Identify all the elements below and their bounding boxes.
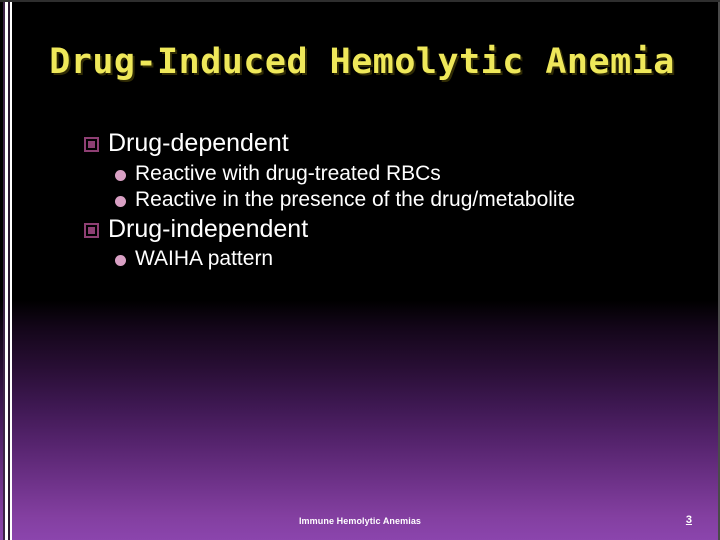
page-number: 3: [686, 514, 692, 526]
background-gradient: [0, 300, 720, 540]
list-item: Drug-dependent: [84, 128, 684, 159]
list-item: Reactive with drug-treated RBCs: [115, 161, 684, 187]
presentation-slide: Drug-Induced Hemolytic Anemia Drug-depen…: [0, 0, 720, 540]
list-item-label: Drug-dependent: [108, 128, 289, 159]
list-item-label: WAIHA pattern: [135, 246, 273, 272]
square-in-square-icon: [84, 137, 99, 152]
list-item-label: Reactive with drug-treated RBCs: [135, 161, 441, 187]
slide-body-list: Drug-dependent Reactive with drug-treate…: [84, 128, 684, 273]
footer-note: Immune Hemolytic Anemias: [0, 516, 720, 526]
list-item-label: Drug-independent: [108, 214, 308, 245]
slide-title: Drug-Induced Hemolytic Anemia: [12, 42, 712, 82]
square-in-square-icon: [84, 223, 99, 238]
round-dot-icon: [115, 170, 126, 181]
list-item-label: Reactive in the presence of the drug/met…: [135, 187, 575, 213]
top-border-rule: [0, 0, 720, 2]
list-item: WAIHA pattern: [115, 246, 684, 272]
round-dot-icon: [115, 196, 126, 207]
list-item: Reactive in the presence of the drug/met…: [115, 187, 684, 213]
list-item: Drug-independent: [84, 214, 684, 245]
round-dot-icon: [115, 255, 126, 266]
